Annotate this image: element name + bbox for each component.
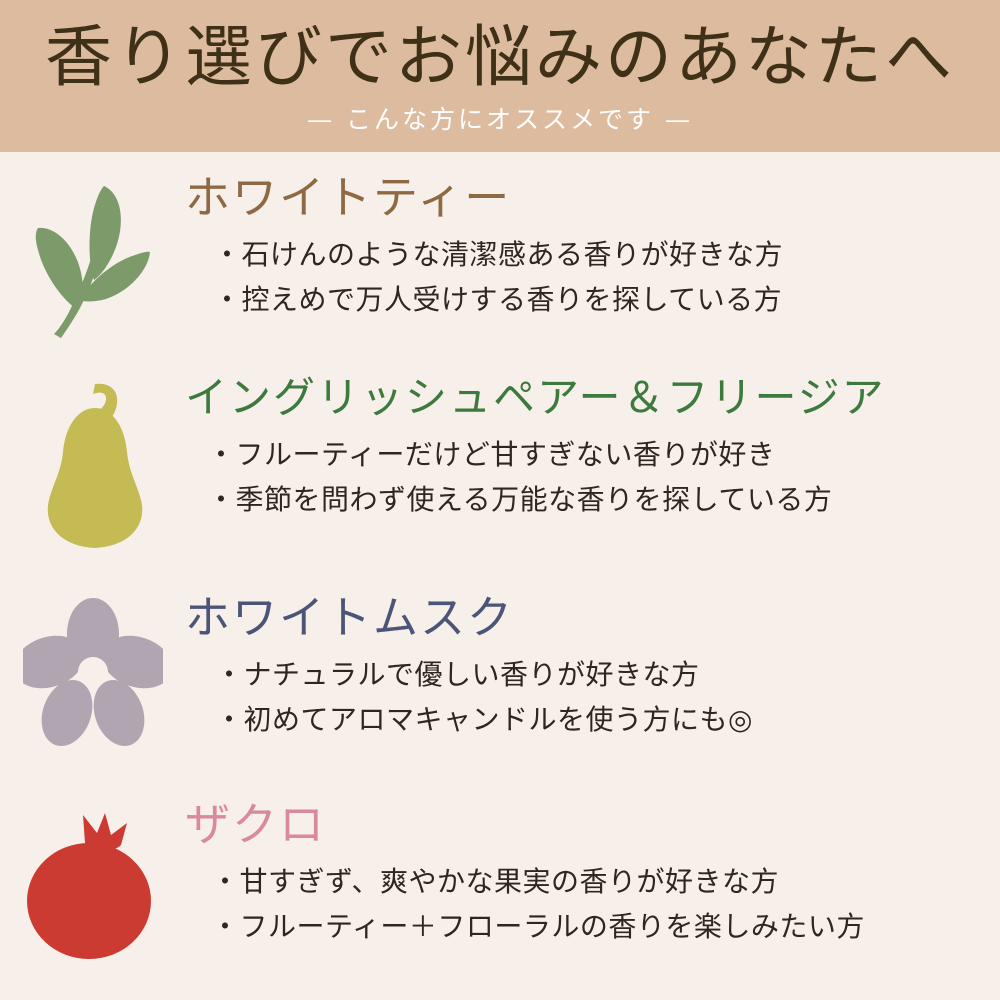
scent-icon-wrap — [0, 170, 185, 341]
scent-icon-wrap — [0, 590, 185, 746]
scent-point-list: ・ナチュラルで優しい香りが好きな方 ・初めてアロマキャンドルを使う方にも◎ — [185, 652, 990, 742]
scent-body: ザクロ ・甘すぎず、爽やかな果実の香りが好きな方 ・フルーティー＋フローラルの香… — [185, 797, 1000, 949]
pomegranate-icon — [23, 803, 163, 963]
scent-section-white-tea: ホワイトティー ・石けんのような清潔感ある香りが好きな方 ・控えめで万人受けする… — [0, 170, 1000, 341]
scent-point: ・控えめで万人受けする香りを探している方 — [213, 277, 990, 322]
scent-point: ・甘すぎず、爽やかな果実の香りが好きな方 — [211, 859, 990, 904]
scent-heading-white-tea: ホワイトティー — [185, 170, 990, 226]
leaf-branch-icon — [30, 176, 155, 341]
page-title: 香り選びでお悩みのあなたへ — [0, 14, 1000, 100]
scent-body: ホワイトムスク ・ナチュラルで優しい香りが好きな方 ・初めてアロマキャンドルを使… — [185, 590, 1000, 742]
pear-icon — [33, 376, 153, 556]
scent-heading-pomegranate: ザクロ — [185, 797, 990, 853]
scent-icon-wrap — [0, 797, 185, 963]
infographic-page: 香り選びでお悩みのあなたへ — こんな方にオススメです — — [0, 0, 1000, 1000]
scent-point: ・フルーティー＋フローラルの香りを楽しみたい方 — [211, 904, 990, 949]
scent-section-english-pear: イングリッシュペアー＆フリージア ・フルーティーだけど甘すぎない香りが好き ・季… — [0, 370, 1000, 556]
scent-body: イングリッシュペアー＆フリージア ・フルーティーだけど甘すぎない香りが好き ・季… — [185, 370, 1000, 522]
scent-body: ホワイトティー ・石けんのような清潔感ある香りが好きな方 ・控えめで万人受けする… — [185, 170, 1000, 322]
scent-section-pomegranate: ザクロ ・甘すぎず、爽やかな果実の香りが好きな方 ・フルーティー＋フローラルの香… — [0, 797, 1000, 963]
scent-point: ・ナチュラルで優しい香りが好きな方 — [215, 652, 990, 697]
scent-point: ・フルーティーだけど甘すぎない香りが好き — [207, 432, 990, 477]
flower-icon — [23, 596, 163, 746]
scent-point-list: ・フルーティーだけど甘すぎない香りが好き ・季節を問わず使える万能な香りを探して… — [185, 432, 990, 522]
scent-heading-white-musk: ホワイトムスク — [185, 590, 990, 646]
scent-heading-english-pear: イングリッシュペアー＆フリージア — [185, 370, 990, 426]
scent-section-white-musk: ホワイトムスク ・ナチュラルで優しい香りが好きな方 ・初めてアロマキャンドルを使… — [0, 590, 1000, 746]
scent-icon-wrap — [0, 370, 185, 556]
scent-point: ・季節を問わず使える万能な香りを探している方 — [207, 477, 990, 522]
scent-section-list: ホワイトティー ・石けんのような清潔感ある香りが好きな方 ・控えめで万人受けする… — [0, 152, 1000, 1000]
scent-point-list: ・甘すぎず、爽やかな果実の香りが好きな方 ・フルーティー＋フローラルの香りを楽し… — [185, 859, 990, 949]
header-band: 香り選びでお悩みのあなたへ — こんな方にオススメです — — [0, 0, 1000, 152]
scent-point: ・石けんのような清潔感ある香りが好きな方 — [213, 232, 990, 277]
scent-point-list: ・石けんのような清潔感ある香りが好きな方 ・控えめで万人受けする香りを探している… — [185, 232, 990, 322]
scent-point: ・初めてアロマキャンドルを使う方にも◎ — [215, 697, 990, 742]
page-subtitle: — こんな方にオススメです — — [0, 104, 1000, 136]
